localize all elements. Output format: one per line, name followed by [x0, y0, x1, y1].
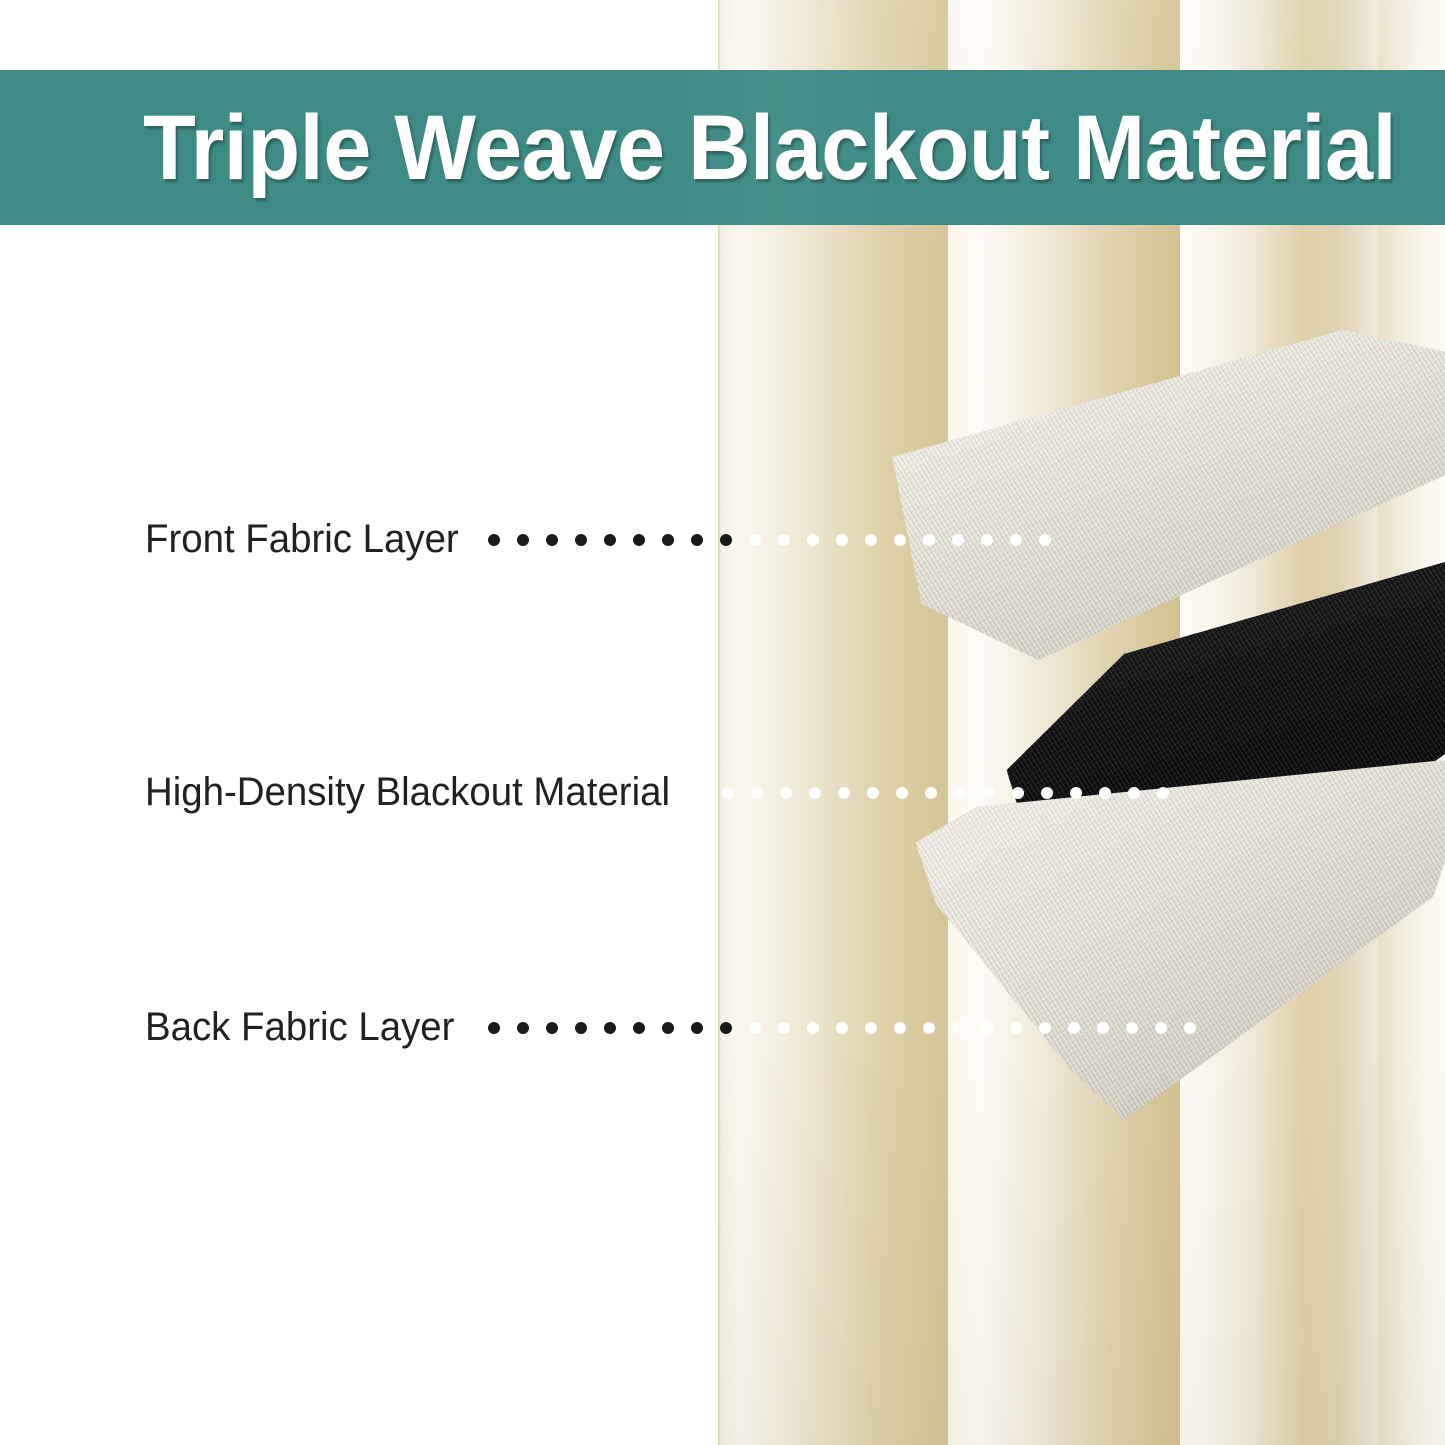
leader-dot — [546, 1022, 558, 1034]
leader-dot — [517, 534, 529, 546]
header-banner: Triple Weave Blackout Material — [0, 70, 1445, 225]
leader-dot — [751, 787, 763, 799]
leader-dot — [836, 1022, 848, 1034]
leader-dot — [1070, 787, 1082, 799]
leader-dot — [1012, 787, 1024, 799]
leader-dot — [633, 1022, 645, 1034]
leader-line-high-density-blackout — [722, 787, 1186, 799]
leader-dot — [691, 534, 703, 546]
leader-dot — [894, 534, 906, 546]
page-title: Triple Weave Blackout Material — [143, 102, 1396, 194]
leader-dot — [749, 534, 761, 546]
leader-dot — [807, 534, 819, 546]
bottom-fabric-sheet — [860, 760, 1445, 1120]
leader-dot — [749, 1022, 761, 1034]
leader-dot — [1184, 1022, 1196, 1034]
leader-dot — [952, 1022, 964, 1034]
leader-dot — [1099, 787, 1111, 799]
bottom-fabric-sheet-shading — [860, 760, 1445, 1120]
leader-dot — [488, 534, 500, 546]
leader-dot — [488, 1022, 500, 1034]
leader-dot — [1041, 787, 1053, 799]
leader-dot — [778, 534, 790, 546]
leader-dot — [575, 1022, 587, 1034]
leader-dot — [925, 787, 937, 799]
leader-dot — [896, 787, 908, 799]
leader-dot — [722, 787, 734, 799]
leader-dot — [809, 787, 821, 799]
leader-dot — [662, 1022, 674, 1034]
leader-dot — [720, 534, 732, 546]
leader-dot — [865, 1022, 877, 1034]
leader-dot — [546, 534, 558, 546]
leader-dot — [662, 534, 674, 546]
leader-dot — [1039, 1022, 1051, 1034]
leader-dot — [981, 1022, 993, 1034]
leader-dot — [778, 1022, 790, 1034]
leader-dot — [517, 1022, 529, 1034]
leader-dot — [1155, 1022, 1167, 1034]
leader-dot — [983, 787, 995, 799]
leader-dot — [894, 1022, 906, 1034]
leader-dot — [836, 534, 848, 546]
leader-dot — [1010, 534, 1022, 546]
leader-dot — [720, 1022, 732, 1034]
leader-dot — [1010, 1022, 1022, 1034]
leader-dot — [1097, 1022, 1109, 1034]
label-front-fabric-layer: Front Fabric Layer — [145, 519, 459, 559]
leader-dot — [923, 534, 935, 546]
leader-dot — [838, 787, 850, 799]
leader-dot — [604, 534, 616, 546]
label-high-density-blackout-material: High-Density Blackout Material — [145, 772, 670, 812]
leader-dot — [952, 534, 964, 546]
leader-dot — [575, 534, 587, 546]
leader-dot — [867, 787, 879, 799]
leader-dot — [691, 1022, 703, 1034]
leader-dot — [1068, 1022, 1080, 1034]
leader-dot — [923, 1022, 935, 1034]
leader-dot — [807, 1022, 819, 1034]
leader-dot — [1128, 787, 1140, 799]
leader-dot — [1039, 534, 1051, 546]
fabric-layer-stack-illustration — [860, 330, 1445, 1120]
leader-line-front-fabric-layer — [488, 534, 1068, 546]
leader-dot — [981, 534, 993, 546]
leader-dot — [954, 787, 966, 799]
leader-line-back-fabric-layer — [488, 1022, 1213, 1034]
leader-dot — [865, 534, 877, 546]
infographic-canvas: Front Fabric Layer High-Density Blackout… — [0, 0, 1445, 1445]
leader-dot — [604, 1022, 616, 1034]
leader-dot — [780, 787, 792, 799]
label-back-fabric-layer: Back Fabric Layer — [145, 1007, 454, 1047]
leader-dot — [1126, 1022, 1138, 1034]
leader-dot — [633, 534, 645, 546]
leader-dot — [1157, 787, 1169, 799]
